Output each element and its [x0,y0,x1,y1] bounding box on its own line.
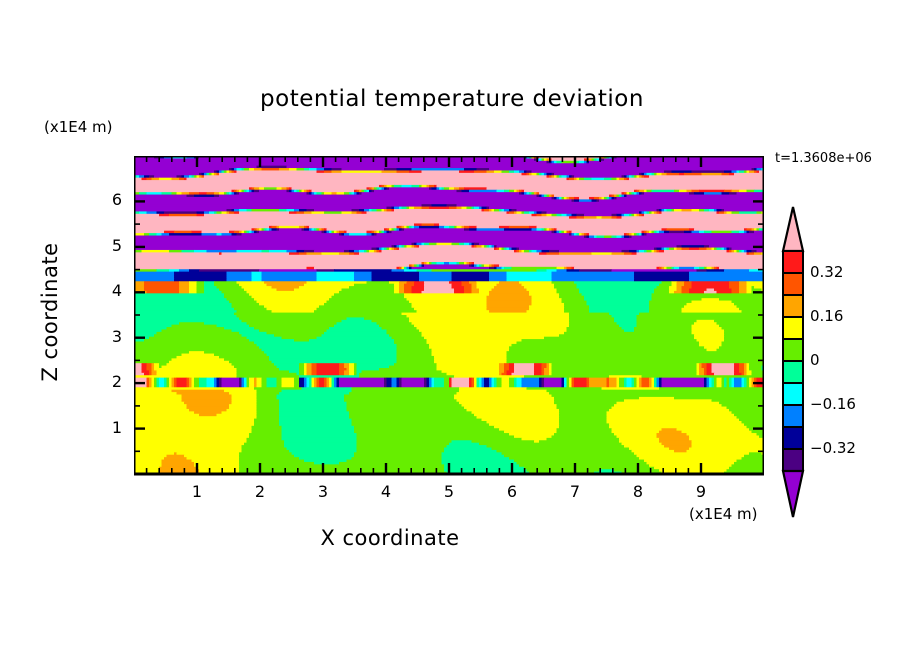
x-tick-5: 5 [429,482,469,501]
y-tick-1: 1 [92,418,122,437]
figure-canvas: potential temperature deviation (x1E4 m)… [0,0,904,654]
x-tick-8: 8 [618,482,658,501]
y-tick-3: 3 [92,327,122,346]
colorbar-label-0: 0.32 [810,263,843,281]
timestamp-annotation: t=1.3608e+06 [775,151,872,166]
x-tick-4: 4 [366,482,406,501]
x-tick-1: 1 [177,482,217,501]
y-tick-6: 6 [92,190,122,209]
colorbar-label-2: 0 [810,351,820,369]
colorbar [780,205,806,521]
x-tick-2: 2 [240,482,280,501]
x-tick-6: 6 [492,482,532,501]
contour-plot-field [134,156,764,476]
x-tick-3: 3 [303,482,343,501]
y-tick-4: 4 [92,281,122,300]
x-axis-unit-label: (x1E4 m) [689,505,758,523]
colorbar-label-4: −0.32 [810,439,856,457]
x-tick-9: 9 [681,482,721,501]
y-tick-2: 2 [92,372,122,391]
y-axis-unit-label: (x1E4 m) [44,118,113,136]
y-tick-5: 5 [92,236,122,255]
colorbar-label-3: −0.16 [810,395,856,413]
colorbar-label-1: 0.16 [810,307,843,325]
x-tick-7: 7 [555,482,595,501]
x-axis-label: X coordinate [0,526,780,550]
y-axis-label: Z coordinate [38,202,62,422]
chart-title: potential temperature deviation [0,86,904,112]
